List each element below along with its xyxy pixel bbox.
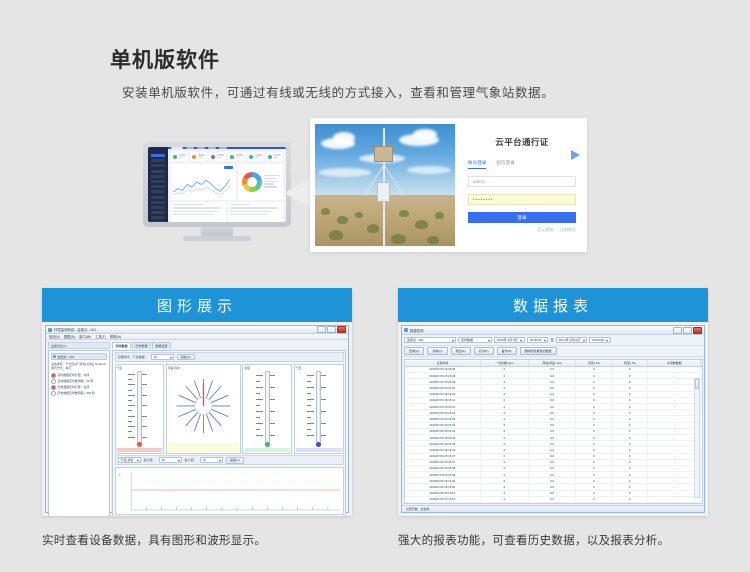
table-cell: 0.0 [529, 416, 577, 421]
radio-icon [51, 391, 56, 396]
table-row[interactable]: 2016/07/29 15:15:5200.000- [405, 503, 702, 504]
table-cell: 0.0 [529, 429, 577, 434]
password-input[interactable]: •••••••• [468, 194, 576, 205]
table-cell: 0 [481, 404, 529, 409]
grid-header-row: 记录时间 一氧化碳 ppm 风向(风速 m/s) 风压1 Pa 风压2 Pa 手… [405, 360, 702, 367]
option-history-period[interactable]: 历史数据定时数周期：300 秒 [51, 391, 107, 396]
table-cell: 0 [612, 404, 648, 409]
action-buttons: 查询(Q) 清除(C) 导出(E) 打印(P) 备份(B) 删除所选重复的数据 [402, 346, 704, 358]
table-cell: 2016/07/29 15:15:41 [405, 398, 482, 403]
waveform-chart[interactable]: ℃ [115, 467, 344, 515]
table-cell: 2016/07/29 15:15:45 [405, 441, 482, 446]
login-submit-button[interactable]: 登录 [468, 212, 576, 223]
window-titlebar: 环境监测系统 - 监测点 - 001 [46, 326, 348, 334]
dashboard-list-left [171, 202, 226, 222]
print-button[interactable]: 打印(P) [474, 347, 494, 355]
thermometer-icon [244, 370, 290, 447]
table-cell: 2016/07/29 15:15:46 [405, 447, 482, 452]
login-tabs: 帐号登录 短信登录 [468, 160, 582, 169]
table-cell: 0.0 [529, 373, 577, 378]
table-cell: 0 [576, 447, 612, 452]
option-history-refresh[interactable]: 历史数据定时打更：关闭 [51, 385, 107, 390]
station-icon [53, 355, 56, 358]
channel-select[interactable]: 气温 通道 [118, 457, 141, 463]
window-controls[interactable] [673, 327, 702, 334]
card-title-graphics: 图形展示 [42, 288, 352, 322]
table-cell: 0 [481, 373, 529, 378]
table-cell: - [648, 367, 701, 372]
table-cell: 0.0 [529, 379, 577, 384]
table-cell: 0 [612, 466, 648, 471]
table-cell: 0 [612, 491, 648, 496]
svg-text:℃: ℃ [118, 474, 121, 477]
min-label: 最小值： [185, 458, 197, 462]
table-cell: 0 [576, 373, 612, 378]
table-cell: 0 [612, 423, 648, 428]
table-cell: 0 [481, 472, 529, 477]
table-cell: 2016/07/29 15:15:49 [405, 472, 482, 477]
grid-scrollbar[interactable] [694, 378, 700, 498]
close-icon[interactable] [693, 327, 702, 334]
column-header-co: 一氧化碳 ppm [481, 360, 529, 366]
page-title: 单机版软件 [110, 44, 220, 74]
menu-detect[interactable]: 检测(V) [49, 334, 60, 339]
data-tabs[interactable]: 实时数据 历史数据 数据设置 [112, 342, 346, 349]
table-cell: 0 [612, 460, 648, 465]
table-cell: 0 [481, 447, 529, 452]
backup-button[interactable]: 备份(B) [497, 347, 517, 355]
table-cell: 0.0 [529, 491, 577, 496]
table-cell: 2016/07/29 15:15:40 [405, 392, 482, 397]
dashboard-stat-cards [168, 149, 286, 164]
row-count-label: 下表数据： [133, 355, 148, 359]
table-cell: 0.0 [529, 478, 577, 483]
table-cell: 0 [576, 503, 612, 504]
login-helper-links[interactable]: 忘记密码 ｜ 注册账号 [462, 227, 576, 233]
table-cell: 0.0 [529, 472, 577, 477]
table-cell: 0 [481, 385, 529, 390]
dashboard-donut-chart [238, 164, 283, 200]
draw-button[interactable]: 绘图(D) [226, 457, 244, 464]
maximize-icon[interactable] [327, 326, 336, 333]
table-cell: 0.0 [529, 447, 577, 452]
table-cell: 0 [481, 367, 529, 372]
table-cell: 0 [481, 435, 529, 440]
table-cell: 0.0 [529, 460, 577, 465]
card-title-report: 数据报表 [398, 288, 708, 322]
table-cell: 0 [481, 392, 529, 397]
radio-icon [51, 373, 56, 378]
dashboard-list-right [228, 202, 283, 222]
range-to-label: 至 [550, 337, 553, 342]
report-app-window: 数据查询 监测点 - 001 实时数据 2016年 2月 9日 00:00:00… [401, 325, 705, 513]
gauge-pressure: 气压 [294, 364, 344, 454]
table-cell: 0 [612, 379, 648, 384]
compass-dial-icon [168, 370, 239, 442]
table-cell: 0 [576, 392, 612, 397]
close-icon[interactable] [337, 326, 346, 333]
minimize-icon[interactable] [673, 327, 682, 334]
menu-data[interactable]: 数据(D) [64, 334, 75, 339]
caption-graphics: 实时查看设备数据，具有图形和波形显示。 [42, 532, 362, 549]
table-cell: 2016/07/29 15:15:43 [405, 416, 482, 421]
login-title: 云平台通行证 [462, 136, 582, 148]
table-cell: 0.0 [529, 503, 577, 504]
card-body-report: 数据查询 监测点 - 001 实时数据 2016年 2月 9日 00:00:00… [398, 322, 708, 516]
table-cell: 0 [576, 491, 612, 496]
table-cell: 0 [576, 478, 612, 483]
tab-account-login[interactable]: 帐号登录 [468, 160, 486, 169]
table-cell: 0 [576, 379, 612, 384]
tab-history-data[interactable]: 历史数据 [132, 342, 151, 349]
table-cell: 0.0 [529, 466, 577, 471]
monitor-base [183, 236, 251, 241]
table-cell: 2016/07/29 15:15:48 [405, 466, 482, 471]
tab-realtime-data[interactable]: 实时数据 [112, 342, 131, 349]
menu-help[interactable]: 帮助(H) [110, 334, 121, 339]
table-cell: 0 [612, 503, 648, 504]
row-count-select[interactable]: 10 [151, 354, 174, 360]
max-value-select[interactable]: 40 [159, 457, 182, 463]
table-cell: 0 [481, 441, 529, 446]
app-icon [48, 328, 52, 332]
table-cell: 0 [612, 416, 648, 421]
device-panel: 设备列表(1) 监测点 - 001 设备类型：干式自动气象站(1线盒 Modbu… [48, 342, 110, 516]
max-label: 最大值： [144, 458, 156, 462]
end-date-input[interactable]: 2017年 2月10日 [556, 337, 588, 344]
table-cell: 0 [481, 484, 529, 489]
table-cell: 0 [612, 472, 648, 477]
sensor-box-lower [377, 182, 390, 202]
login-form: 云平台通行证 帐号登录 短信登录 admin •••••••• 登录 忘记密码 … [462, 124, 582, 246]
table-cell: 2016/07/29 15:15:51 [405, 491, 482, 496]
table-cell: 0.0 [529, 398, 577, 403]
gauge-humidity: 湿度 [242, 364, 292, 454]
table-cell: 2016/07/29 15:15:40 [405, 385, 482, 390]
table-cell: 2016/07/29 15:15:39 [405, 373, 482, 378]
table-cell: 2016/07/29 15:15:43 [405, 423, 482, 428]
table-cell: 0 [612, 447, 648, 452]
menu-window[interactable]: 窗口(W) [79, 334, 91, 339]
table-cell: 0 [612, 392, 648, 397]
monitor-screen [148, 147, 286, 222]
table-cell: 2016/07/29 15:15:51 [405, 497, 482, 502]
table-cell: 0 [612, 398, 648, 403]
table-cell: 2016/07/29 15:15:52 [405, 503, 482, 504]
gauge-temperature: 气温 [115, 364, 165, 454]
cloud-login-preview: 云平台通行证 帐号登录 短信登录 admin •••••••• 登录 忘记密码 … [310, 118, 587, 252]
grid-body: 2016/07/29 15:15:3800.000-2016/07/29 15:… [405, 367, 702, 504]
table-cell: 0 [481, 497, 529, 502]
table-cell: 0 [612, 478, 648, 483]
feature-card-graphics: 图形展示 环境监测系统 - 监测点 - 001 检测(V) 数据(D) 窗口(W… [42, 288, 352, 516]
table-cell: - [648, 503, 701, 504]
start-date-input[interactable]: 2016年 2月 9日 [494, 337, 525, 344]
table-cell: 0 [612, 367, 648, 372]
column-header-wind: 风向(风速 m/s) [529, 360, 577, 366]
status-rowcount: 记录行数：共查询 [406, 507, 429, 511]
device-list-label: 设备列表(1) [48, 342, 110, 349]
scrollbar-thumb[interactable] [695, 379, 699, 389]
table-cell: 0 [481, 466, 529, 471]
table-cell: 0 [576, 416, 612, 421]
page-subtitle: 安装单机版软件，可通过有线或无线的方式接入，查看和管理气象站数据。 [122, 82, 554, 101]
column-header-pressure1: 风压1 Pa [576, 360, 612, 366]
table-cell: 2016/07/29 15:15:39 [405, 379, 482, 384]
table-cell: 0.0 [529, 497, 577, 502]
table-cell: 0 [612, 441, 648, 446]
gauge-wind: 风速 风向 [166, 364, 241, 454]
card-body-graphics: 环境监测系统 - 监测点 - 001 检测(V) 数据(D) 窗口(W) 工具(… [42, 322, 352, 516]
table-cell: 0 [576, 441, 612, 446]
query-button[interactable]: 查询(Q) [404, 347, 424, 355]
table-cell: 0 [481, 423, 529, 428]
column-header-manual: 手录制数据 [648, 360, 701, 366]
table-cell: 0 [481, 478, 529, 483]
table-cell: 0 [481, 379, 529, 384]
sparkline [173, 177, 232, 197]
table-cell: 2016/07/29 15:15:47 [405, 454, 482, 459]
table-cell: 0 [612, 429, 648, 434]
monitoring-app-window: 环境监测系统 - 监测点 - 001 检测(V) 数据(D) 窗口(W) 工具(… [45, 325, 349, 513]
minimize-icon[interactable] [317, 326, 326, 333]
table-cell: 0 [576, 429, 612, 434]
column-header-pressure2: 风压2 Pa [612, 360, 648, 366]
table-cell: 0 [481, 454, 529, 459]
table-cell: 0.0 [529, 410, 577, 415]
menu-tools[interactable]: 工具(T) [95, 334, 106, 339]
table-cell: 0 [612, 373, 648, 378]
gauge-row: 气温 [115, 364, 344, 454]
table-cell: 0 [576, 423, 612, 428]
table-cell: 0.0 [529, 423, 577, 428]
record-time-label: 记录时间 [118, 355, 130, 359]
table-cell: 0 [612, 497, 648, 502]
window-title: 环境监测系统 - 监测点 - 001 [54, 327, 315, 332]
table-cell: 0 [576, 385, 612, 390]
refresh-options[interactable]: 实时数据定时打更：关闭 实时数据定时数周期：60 秒 历史数据定时打更：关闭 历… [51, 373, 107, 396]
data-grid[interactable]: 记录时间 一氧化碳 ppm 风向(风速 m/s) 风压1 Pa 风压2 Pa 手… [404, 359, 703, 504]
wave-toolbar: 气温 通道 最大值： 40 最小值： 10 绘图(D) [115, 455, 344, 465]
table-cell: 0.0 [529, 367, 577, 372]
gauge-value-strip [117, 448, 163, 452]
dashboard-line-chart [171, 164, 236, 200]
table-cell: 0 [576, 454, 612, 459]
table-cell: 2016/07/29 15:15:49 [405, 478, 482, 483]
gauge-value-strip-2 [168, 448, 239, 452]
table-cell: 2016/07/29 15:15:47 [405, 460, 482, 465]
table-cell: 2016/07/29 15:15:44 [405, 429, 482, 434]
table-cell: 0 [576, 484, 612, 489]
sensor-box-upper [374, 146, 393, 162]
option-realtime-period[interactable]: 实时数据定时数周期：60 秒 [51, 379, 107, 384]
search-icon [404, 328, 408, 332]
thermometer-icon [296, 370, 342, 447]
table-cell: 0 [481, 491, 529, 496]
table-cell: 2016/07/29 15:15:42 [405, 410, 482, 415]
feature-card-report: 数据报表 数据查询 监测点 - 001 实时数据 2016年 2月 9日 [398, 288, 708, 516]
table-cell: 0 [576, 398, 612, 403]
status-bar: 记录行数：共查询 [402, 505, 704, 512]
page-root: 单机版软件 安装单机版软件，可通过有线或无线的方式接入，查看和管理气象站数据。 [0, 0, 750, 572]
device-select[interactable]: 监测点 - 001 [404, 337, 456, 344]
end-time-input[interactable]: 00:00:00 [589, 337, 611, 344]
table-cell: 0 [576, 472, 612, 477]
table-cell: 0.0 [529, 454, 577, 459]
table-cell: 0 [612, 454, 648, 459]
table-cell: 0 [612, 410, 648, 415]
table-cell: 0.0 [529, 484, 577, 489]
option-realtime-refresh[interactable]: 实时数据定时打更：关闭 [51, 373, 107, 378]
tab-sms-login[interactable]: 短信登录 [496, 160, 514, 169]
device-tree[interactable]: 监测点 - 001 设备类型：干式自动气象站(1线盒 Modbus) 通讯方式：… [48, 350, 110, 516]
table-cell: 0 [481, 410, 529, 415]
window-title: 数据查询 [410, 328, 671, 333]
hero-illustration: 云平台通行证 帐号登录 短信登录 admin •••••••• 登录 忘记密码 … [0, 110, 750, 260]
device-hint: 设备类型：干式自动气象站(1线盒 Modbus) 通讯方式：串口 [51, 362, 107, 371]
window-controls[interactable] [317, 326, 346, 333]
table-cell: 0.0 [529, 404, 577, 409]
username-input[interactable]: admin [468, 176, 576, 187]
dashboard-preview [148, 147, 286, 222]
start-time-input[interactable]: 00:00:00 [527, 337, 549, 344]
table-cell: 0 [576, 460, 612, 465]
table-cell: 2016/07/29 15:15:45 [405, 435, 482, 440]
column-header-time: 记录时间 [405, 360, 482, 366]
gauge-value-strip [244, 448, 290, 452]
tab-data-settings[interactable]: 数据设置 [152, 342, 171, 349]
datatype-select[interactable]: 实时数据 [458, 337, 492, 344]
table-cell: 0.0 [529, 385, 577, 390]
dashboard-sidebar [148, 147, 168, 222]
table-cell: 0 [576, 497, 612, 502]
table-cell: 0.0 [529, 441, 577, 446]
radio-icon [51, 379, 56, 384]
desktop-monitor [143, 142, 291, 237]
radio-icon [51, 385, 56, 390]
table-cell: 0 [576, 404, 612, 409]
thermometer-icon [117, 370, 163, 447]
filter-toolbar: 监测点 - 001 实时数据 2016年 2月 9日 00:00:00 至 20… [402, 335, 704, 346]
table-cell: 0 [612, 385, 648, 390]
gauge-value-strip [296, 448, 342, 452]
window-titlebar: 数据查询 [402, 326, 704, 335]
table-cell: 0 [481, 429, 529, 434]
table-cell: 0.0 [529, 435, 577, 440]
clear-button[interactable]: 清除(C) [427, 347, 447, 355]
min-value-select[interactable]: 10 [200, 457, 223, 463]
table-cell: 0 [612, 435, 648, 440]
table-cell: 0 [576, 435, 612, 440]
table-cell: 2016/07/29 15:15:38 [405, 367, 482, 372]
table-cell: 0 [481, 460, 529, 465]
caption-report: 强大的报表功能，可查看历史数据，以及报表分析。 [398, 532, 698, 549]
paper-plane-icon [571, 150, 580, 160]
tree-node-station[interactable]: 监测点 - 001 [51, 353, 107, 360]
tree-node-label: 监测点 - 001 [58, 355, 75, 359]
delete-duplicates-button[interactable]: 删除所选重复的数据 [520, 347, 557, 355]
table-cell: 0 [576, 466, 612, 471]
table-cell: 0 [481, 416, 529, 421]
table-cell: 0 [612, 484, 648, 489]
table-cell: 2016/07/29 15:15:41 [405, 404, 482, 409]
table-cell: 0 [576, 367, 612, 372]
maximize-icon[interactable] [683, 327, 692, 334]
record-toolbar: 记录时间 下表数据： 10 刷新(R) [115, 352, 344, 362]
table-cell: 0 [481, 503, 529, 504]
table-cell: 0.0 [529, 392, 577, 397]
table-cell: 2016/07/29 15:15:50 [405, 484, 482, 489]
weather-station-photo [315, 124, 455, 246]
refresh-button[interactable]: 刷新(R) [177, 354, 195, 361]
gauge-value-strip [168, 443, 239, 447]
table-cell: 0 [576, 410, 612, 415]
table-cell: 0 [481, 398, 529, 403]
export-button[interactable]: 导出(E) [451, 347, 471, 355]
